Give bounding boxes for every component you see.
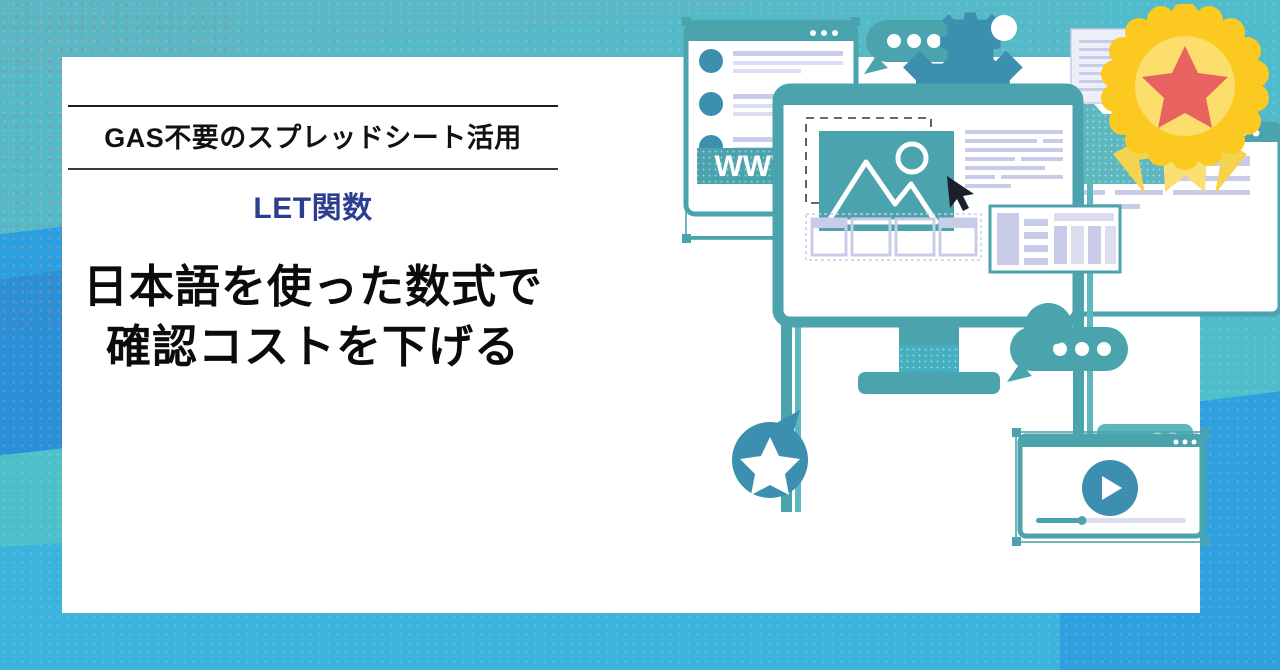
monitor-main	[778, 89, 1120, 322]
kicker-text: GAS不要のスプレッドシート活用	[68, 107, 558, 168]
image-placeholder	[819, 131, 954, 231]
headline-line-1: 日本語を使った数式で	[68, 257, 558, 317]
video-player-window	[1012, 428, 1210, 546]
monitor-dashboard-panel	[990, 206, 1120, 272]
poster-canvas: GAS不要のスプレッドシート活用 LET関数 日本語を使った数式で 確認コストを…	[0, 0, 1280, 670]
headline-line-2: 確認コストを下げる	[68, 317, 558, 377]
monitor-stand	[858, 322, 1000, 394]
title-block: GAS不要のスプレッドシート活用 LET関数 日本語を使った数式で 確認コストを…	[68, 105, 558, 376]
headline-text: 日本語を使った数式で 確認コストを下げる	[68, 243, 558, 377]
subtitle-text: LET関数	[68, 170, 558, 243]
award-rosette-badge	[1095, 4, 1280, 199]
